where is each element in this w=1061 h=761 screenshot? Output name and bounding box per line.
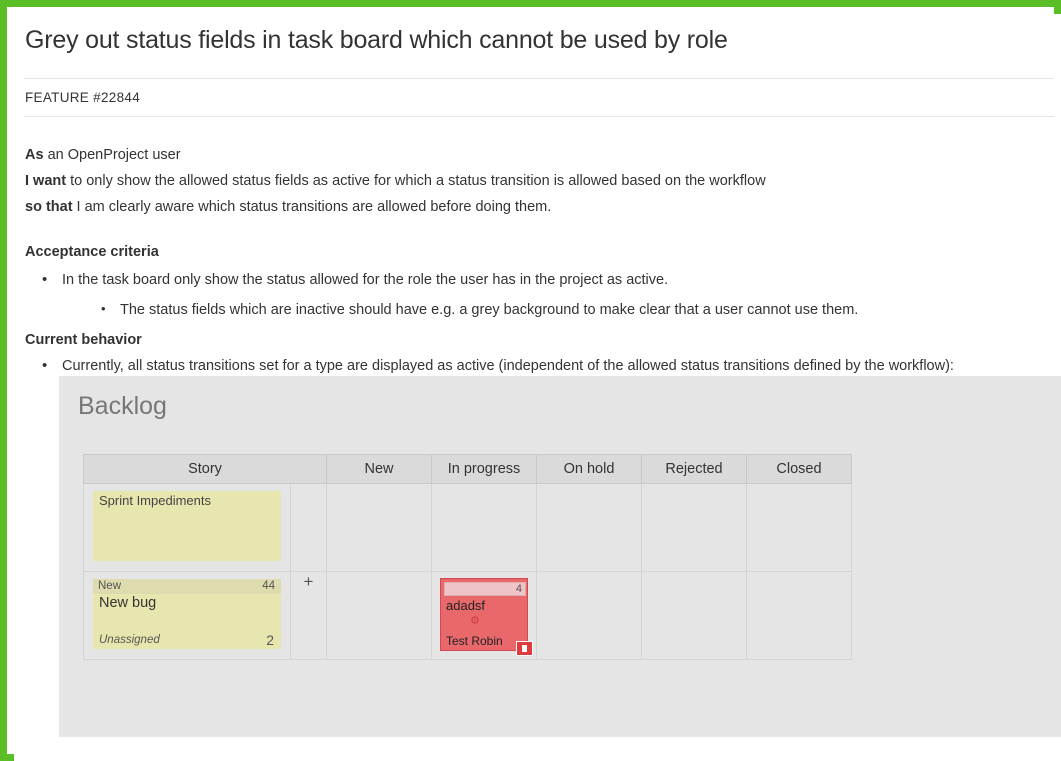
divider-top [24, 78, 1054, 79]
divider-bottom [24, 116, 1054, 117]
task-card-id-field[interactable]: 4 [444, 582, 526, 596]
story-cell[interactable]: Sprint Impediments [84, 484, 291, 572]
column-header-in-progress[interactable]: In progress [432, 455, 537, 484]
task-cell-in-progress[interactable]: 4 adadsf ⚙ Test Robin [432, 572, 537, 660]
add-task-button[interactable]: + [291, 572, 327, 660]
task-cell-new[interactable] [327, 484, 432, 572]
column-header-rejected[interactable]: Rejected [642, 455, 747, 484]
story-card-status: New [98, 580, 121, 592]
acceptance-bullet-2: The status fields which are inactive sho… [120, 302, 858, 318]
story-cell[interactable]: New 44 New bug Unassigned 2 [84, 572, 291, 660]
task-cell-closed[interactable] [747, 484, 852, 572]
work-package-subject: FEATURE #22844 [25, 90, 140, 105]
story-card-title: Sprint Impediments [99, 493, 211, 508]
task-board-table: Story New In progress On hold Rejected C… [83, 454, 852, 660]
task-cell-rejected[interactable] [642, 572, 747, 660]
acceptance-criteria-heading: Acceptance criteria [25, 244, 159, 260]
story-card-id: 44 [262, 580, 275, 592]
task-card-title: adadsf [446, 598, 485, 613]
description-line-as: As an OpenProject user [25, 142, 1045, 168]
as-text: an OpenProject user [44, 147, 181, 163]
want-text: to only show the allowed status fields a… [66, 173, 766, 189]
story-card-points: 2 [266, 632, 274, 648]
as-label: As [25, 147, 44, 163]
task-cell-on-hold[interactable] [537, 572, 642, 660]
want-label: I want [25, 173, 66, 189]
page-title: Grey out status fields in task board whi… [25, 26, 728, 55]
story-card-title: New bug [99, 595, 156, 611]
task-cell-in-progress[interactable] [432, 484, 537, 572]
description-line-want: I want to only show the allowed status f… [25, 168, 1045, 194]
description-body: As an OpenProject user I want to only sh… [25, 142, 1045, 220]
acceptance-bullet-1: In the task board only show the status a… [62, 272, 668, 288]
table-row: New 44 New bug Unassigned 2 + [84, 572, 852, 660]
story-card-assignee: Unassigned [99, 634, 160, 646]
story-card[interactable]: Sprint Impediments [93, 491, 281, 561]
task-card-assignee: Test Robin [446, 634, 503, 648]
table-row: Sprint Impediments [84, 484, 852, 572]
green-frame: Grey out status fields in task board whi… [0, 0, 1061, 761]
board-title: Backlog [78, 392, 167, 421]
column-header-new[interactable]: New [327, 455, 432, 484]
task-card-status-badge [516, 641, 533, 656]
story-card[interactable]: New 44 New bug Unassigned 2 [93, 579, 281, 649]
backlog-board-panel: Backlog Story New In progress On hold Re… [59, 376, 1061, 737]
task-cell-new[interactable] [327, 572, 432, 660]
task-card-id: 4 [516, 583, 522, 595]
sothat-text: I am clearly aware which status transiti… [73, 199, 552, 215]
work-package-page: Grey out status fields in task board whi… [14, 14, 1061, 761]
task-cell-rejected[interactable] [642, 484, 747, 572]
task-board-header-row: Story New In progress On hold Rejected C… [84, 455, 852, 484]
story-card-header [93, 579, 281, 594]
task-card[interactable]: 4 adadsf ⚙ Test Robin [440, 578, 528, 651]
current-behavior-bullet-1: Currently, all status transitions set fo… [62, 358, 954, 374]
column-header-on-hold[interactable]: On hold [537, 455, 642, 484]
description-line-sothat: so that I am clearly aware which status … [25, 194, 1045, 220]
add-task-cell[interactable] [291, 484, 327, 572]
current-behavior-heading: Current behavior [25, 332, 142, 348]
column-header-closed[interactable]: Closed [747, 455, 852, 484]
column-header-story[interactable]: Story [84, 455, 327, 484]
task-cell-closed[interactable] [747, 572, 852, 660]
task-cell-on-hold[interactable] [537, 484, 642, 572]
sothat-label: so that [25, 199, 73, 215]
bug-icon: ⚙ [470, 616, 480, 627]
